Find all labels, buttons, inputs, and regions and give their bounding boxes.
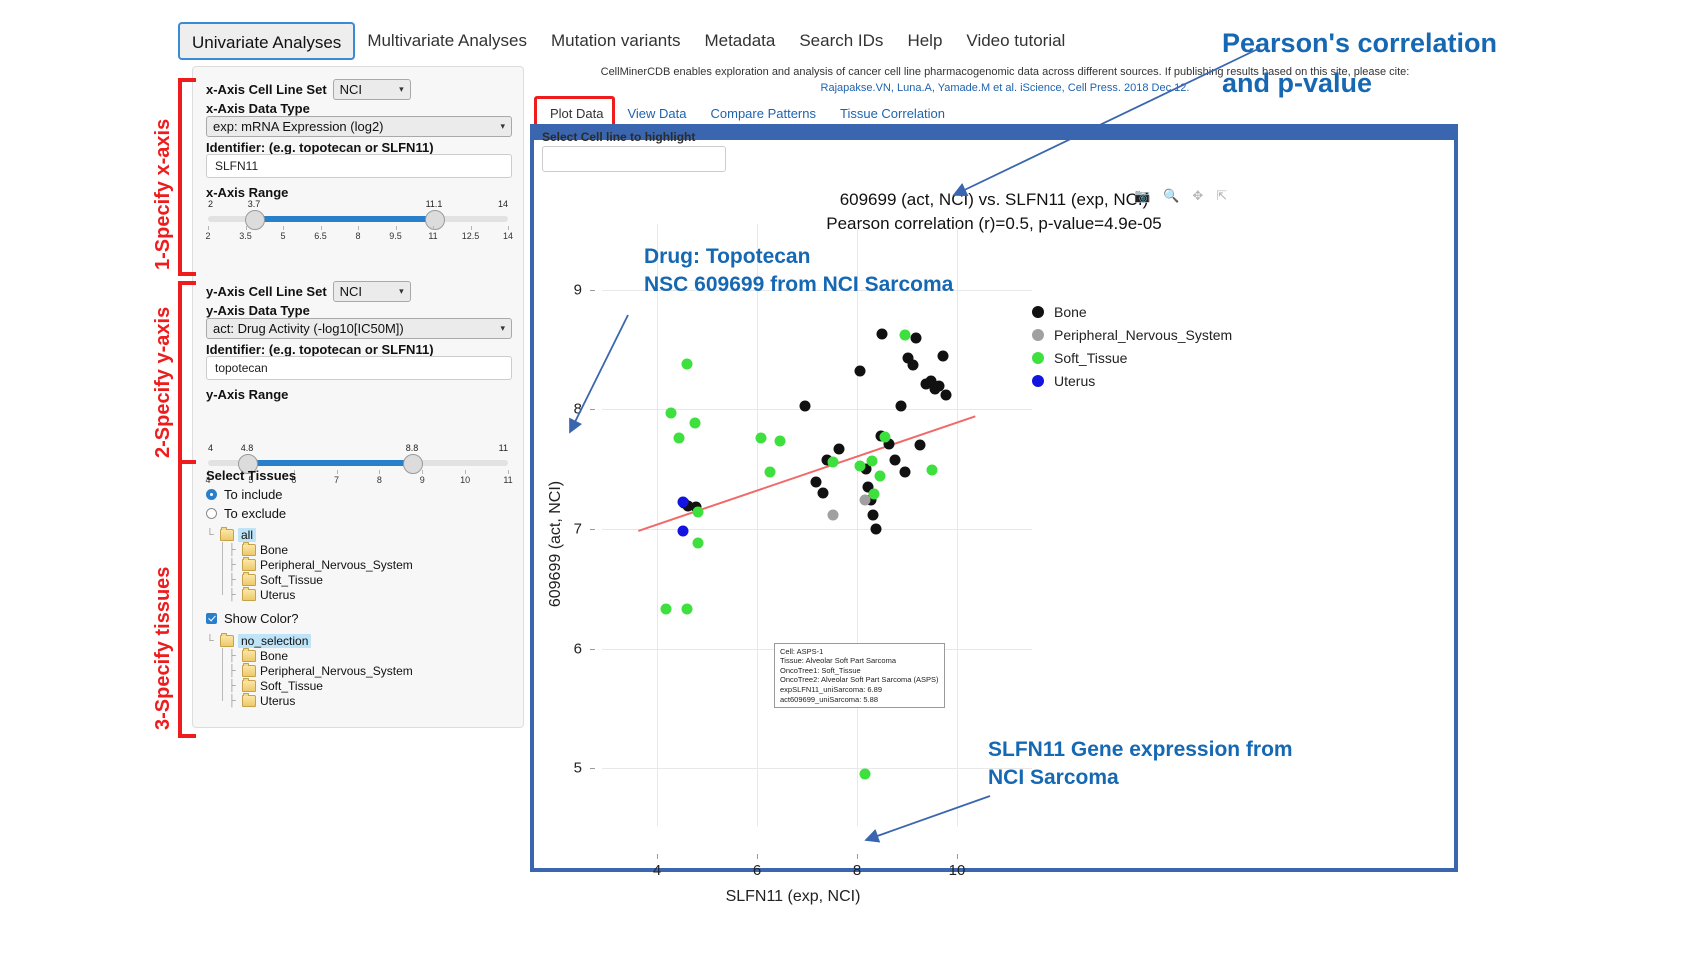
- slider-tickmark: [337, 470, 338, 474]
- tissue-tree2-children[interactable]: ├Bone├Peripheral_Nervous_System├Soft_Tis…: [206, 648, 506, 708]
- scatter-point[interactable]: [693, 507, 704, 518]
- tissue-tree-no-selection[interactable]: └ no_selection ├Bone├Peripheral_Nervous_…: [206, 634, 506, 708]
- radio-icon-exclude[interactable]: [206, 508, 217, 519]
- nav-tab-search-ids[interactable]: Search IDs: [787, 22, 895, 60]
- y-slider-fill: [244, 460, 411, 466]
- slider-ticklabel: 8: [355, 231, 360, 241]
- x-tickmark: [857, 854, 858, 859]
- tree-branch-icon: ├: [228, 695, 238, 707]
- scatter-point[interactable]: [911, 332, 922, 343]
- radio-icon-include[interactable]: [206, 489, 217, 500]
- tissue-tree-item-label: Soft_Tissue: [260, 573, 323, 587]
- folder-icon: [242, 650, 256, 662]
- tissue-tree-item-soft_tissue[interactable]: ├Soft_Tissue: [228, 678, 506, 693]
- y-axis-identifier-input[interactable]: topotecan: [206, 356, 512, 380]
- slider-ticklabel: 8: [377, 475, 382, 485]
- tooltip-line: Cell: ASPS-1: [780, 647, 939, 657]
- bracket-label-x-axis: 1-Specify x-axis: [152, 119, 175, 270]
- slider-tickmark: [321, 226, 322, 230]
- scatter-point[interactable]: [899, 466, 910, 477]
- slider-tickmark: [379, 470, 380, 474]
- y-axis-data-type-label: y-Axis Data Type: [206, 303, 310, 318]
- scatter-point[interactable]: [890, 454, 901, 465]
- highlight-cell-line-input[interactable]: [542, 146, 726, 172]
- legend-item-bone[interactable]: Bone: [1032, 304, 1087, 320]
- show-color-checkbox-row[interactable]: Show Color?: [206, 611, 298, 626]
- x-axis-identifier-label: Identifier: (e.g. topotecan or SLFN11): [206, 140, 434, 155]
- y-axis-title: 609699 (act, NCI): [547, 444, 565, 644]
- slider-ticklabel: 14: [503, 231, 513, 241]
- gridline-vertical: [757, 224, 758, 826]
- slider-ticklabel: 6.5: [314, 231, 327, 241]
- tissue-tree-item-bone[interactable]: ├Bone: [228, 542, 506, 557]
- legend-dot-icon: [1032, 306, 1044, 318]
- scatter-point[interactable]: [678, 496, 689, 507]
- folder-icon: [220, 529, 234, 541]
- legend-dot-icon: [1032, 352, 1044, 364]
- select-tissues-title: Select Tissues: [206, 468, 296, 483]
- arrow-pearson: [940, 40, 1270, 210]
- slider-tickmark: [422, 470, 423, 474]
- y-tickmark: [590, 649, 595, 650]
- bracket-tissues: [178, 460, 196, 738]
- y-axis-cell-line-set-value: NCI: [340, 284, 362, 299]
- slider-ticklabel: 9: [420, 475, 425, 485]
- x-slider-high-value: 11.1: [426, 199, 443, 209]
- bracket-label-y-axis: 2-Specify y-axis: [152, 307, 175, 458]
- tooltip-line: OncoTree2: Alveolar Soft Part Sarcoma (A…: [780, 675, 939, 685]
- annotation-drug-line1: Drug: Topotecan: [644, 245, 810, 269]
- scatter-point[interactable]: [908, 360, 919, 371]
- point-tooltip: Cell: ASPS-1Tissue: Alveolar Soft Part S…: [774, 643, 945, 709]
- slider-ticklabel: 10: [460, 475, 470, 485]
- tissue-tree-item-label: Bone: [260, 543, 288, 557]
- folder-icon: [242, 680, 256, 692]
- slider-tickmark: [433, 226, 434, 230]
- tree-expander-icon[interactable]: └: [206, 529, 216, 541]
- y-axis-data-type-select[interactable]: act: Drug Activity (-log10[IC50M]) ▾: [206, 318, 512, 339]
- y-axis-range-min-end: 4: [208, 443, 213, 453]
- highlight-label: Select Cell line to highlight: [542, 130, 695, 144]
- y-ticklabel: 6: [574, 640, 582, 657]
- legend-dot-icon: [1032, 375, 1044, 387]
- radio-to-include-label: To include: [224, 487, 283, 502]
- tissue-tree2-root[interactable]: └ no_selection: [206, 634, 506, 648]
- scatter-point[interactable]: [941, 390, 952, 401]
- folder-icon: [242, 544, 256, 556]
- x-axis-identifier-value: SLFN11: [215, 159, 258, 173]
- folder-icon: [220, 635, 234, 647]
- y-ticklabel: 5: [574, 760, 582, 777]
- tissue-tree-item-label: Soft_Tissue: [260, 679, 323, 693]
- tree-branch-icon: ├: [228, 574, 238, 586]
- x-ticklabel: 4: [653, 862, 661, 879]
- gridline-vertical: [957, 224, 958, 826]
- scatter-point[interactable]: [682, 359, 693, 370]
- x-tickmark: [657, 854, 658, 859]
- y-axis-range-max-end: 11: [499, 443, 508, 453]
- y-axis-cell-line-set-label: y-Axis Cell Line Set: [206, 284, 327, 299]
- legend-item-peripheral_nervous_system[interactable]: Peripheral_Nervous_System: [1032, 327, 1232, 343]
- tissue-tree-root-label: all: [238, 528, 256, 542]
- tissue-tree-item-label: Peripheral_Nervous_System: [260, 558, 413, 572]
- slider-tickmark: [246, 226, 247, 230]
- scatter-point[interactable]: [900, 330, 911, 341]
- tissue-tree-item-label: Bone: [260, 649, 288, 663]
- tooltip-line: OncoTree1: Soft_Tissue: [780, 666, 939, 676]
- scatter-point[interactable]: [682, 604, 693, 615]
- radio-to-exclude-label: To exclude: [224, 506, 286, 521]
- scatter-point[interactable]: [859, 769, 870, 780]
- y-ticklabel: 9: [574, 281, 582, 298]
- scatter-point[interactable]: [774, 435, 785, 446]
- tissue-tree-item-soft_tissue[interactable]: ├Soft_Tissue: [228, 572, 506, 587]
- folder-icon: [242, 574, 256, 586]
- scatter-point[interactable]: [755, 433, 766, 444]
- legend-dot-icon: [1032, 329, 1044, 341]
- bracket-x-axis: [178, 78, 196, 276]
- y-ticklabel: 7: [574, 521, 582, 538]
- scatter-point[interactable]: [867, 455, 878, 466]
- scatter-point[interactable]: [854, 460, 865, 471]
- scatter-point[interactable]: [674, 433, 685, 444]
- slider-ticklabel: 2: [205, 231, 210, 241]
- x-tickmark: [757, 854, 758, 859]
- nav-tab-multivariate-analyses[interactable]: Multivariate Analyses: [355, 22, 539, 60]
- x-tickmark: [957, 854, 958, 859]
- regression-line: [638, 415, 976, 531]
- tree-connector: [222, 542, 223, 595]
- scatter-point[interactable]: [854, 366, 865, 377]
- x-axis-range-slider[interactable]: 2 14 3.7 11.1 23.556.589.51112.514: [208, 199, 508, 241]
- tree-branch-icon: ├: [228, 650, 238, 662]
- tissue-tree-include[interactable]: └ all ├Bone├Peripheral_Nervous_System├So…: [206, 528, 506, 602]
- slider-ticklabel: 11: [428, 231, 437, 241]
- bracket-y-axis: [178, 281, 196, 464]
- slider-tickmark: [358, 226, 359, 230]
- tree-expander-icon[interactable]: └: [206, 635, 216, 647]
- tissue-tree-root[interactable]: └ all: [206, 528, 506, 542]
- y-slider-high-value: 8.8: [406, 443, 419, 453]
- x-axis-range-min-end: 2: [208, 199, 213, 209]
- slider-tickmark: [283, 226, 284, 230]
- tissue-tree-item-peripheral_nervous_system[interactable]: ├Peripheral_Nervous_System: [228, 663, 506, 678]
- annotation-slfn11-line1: SLFN11 Gene expression from: [988, 738, 1293, 762]
- scatter-point[interactable]: [875, 471, 886, 482]
- x-ticklabel: 10: [949, 862, 966, 879]
- plot-subtitle: Pearson correlation (r)=0.5, p-value=4.9…: [534, 214, 1454, 234]
- legend-label: Soft_Tissue: [1054, 350, 1127, 366]
- y-axis-identifier-label: Identifier: (e.g. topotecan or SLFN11): [206, 342, 434, 357]
- y-axis-identifier-value: topotecan: [215, 361, 268, 375]
- x-axis-title: SLFN11 (exp, NCI): [534, 888, 1052, 906]
- x-axis-data-type-select[interactable]: exp: mRNA Expression (log2) ▾: [206, 116, 512, 137]
- tree-branch-icon: ├: [228, 665, 238, 677]
- y-axis-data-type-value: act: Drug Activity (-log10[IC50M]): [213, 321, 404, 336]
- scatter-point[interactable]: [689, 417, 700, 428]
- x-axis-data-type-label: x-Axis Data Type: [206, 101, 310, 116]
- tissue-tree-item-uterus[interactable]: ├Uterus: [228, 693, 506, 708]
- x-slider-low-value: 3.7: [248, 199, 261, 209]
- slider-tickmark: [508, 226, 509, 230]
- nav-tab-metadata[interactable]: Metadata: [692, 22, 787, 60]
- chevron-down-icon: ▾: [500, 323, 505, 334]
- scatter-point[interactable]: [896, 400, 907, 411]
- gridline-horizontal: [602, 768, 1032, 769]
- y-slider-low-value: 4.8: [241, 443, 254, 453]
- gridline-horizontal: [602, 529, 1032, 530]
- legend-label: Peripheral_Nervous_System: [1054, 327, 1232, 343]
- tooltip-line: expSLFN11_uniSarcoma: 6.89: [780, 685, 939, 695]
- slider-tickmark: [208, 226, 209, 230]
- x-axis-cell-line-set-select[interactable]: NCI ▾: [333, 79, 411, 100]
- legend-item-uterus[interactable]: Uterus: [1032, 373, 1095, 389]
- y-axis-range-label: y-Axis Range: [206, 387, 288, 402]
- tissue-tree-item-peripheral_nervous_system[interactable]: ├Peripheral_Nervous_System: [228, 557, 506, 572]
- tissue-tree-item-label: Peripheral_Nervous_System: [260, 664, 413, 678]
- folder-icon: [242, 589, 256, 601]
- x-axis-range-max-end: 14: [498, 199, 508, 209]
- x-axis-cell-line-set-row[interactable]: x-Axis Cell Line Set NCI ▾: [206, 79, 411, 100]
- scatter-point[interactable]: [828, 509, 839, 520]
- slider-ticklabel: 7: [334, 475, 339, 485]
- arrow-drug: [560, 310, 640, 445]
- scatter-point[interactable]: [693, 538, 704, 549]
- tissue-tree-item-label: Uterus: [260, 694, 295, 708]
- tissue-tree-item-label: Uterus: [260, 588, 295, 602]
- scatter-point[interactable]: [871, 524, 882, 535]
- slider-ticklabel: 12.5: [462, 231, 480, 241]
- slider-tickmark: [471, 226, 472, 230]
- slider-ticklabel: 9.5: [389, 231, 402, 241]
- scatter-point[interactable]: [938, 350, 949, 361]
- tissue-tree2-root-label: no_selection: [238, 634, 311, 648]
- folder-icon: [242, 665, 256, 677]
- scatter-point[interactable]: [666, 408, 677, 419]
- subtab-view-data[interactable]: View Data: [615, 100, 698, 127]
- gridline-vertical: [857, 224, 858, 826]
- x-axis-cell-line-set-label: x-Axis Cell Line Set: [206, 82, 327, 97]
- scatter-point[interactable]: [817, 488, 828, 499]
- tissue-tree-item-bone[interactable]: ├Bone: [228, 648, 506, 663]
- x-axis-range-label: x-Axis Range: [206, 185, 288, 200]
- scatter-point[interactable]: [926, 465, 937, 476]
- slider-tickmark: [465, 470, 466, 474]
- scatter-point[interactable]: [833, 443, 844, 454]
- scatter-point[interactable]: [810, 477, 821, 488]
- nav-tab-mutation-variants[interactable]: Mutation variants: [539, 22, 692, 60]
- folder-icon: [242, 559, 256, 571]
- chevron-down-icon: ▾: [399, 286, 404, 297]
- tooltip-line: Tissue: Alveolar Soft Part Sarcoma: [780, 656, 939, 666]
- tooltip-line: act609699_uniSarcoma: 5.88: [780, 695, 939, 705]
- x-axis-cell-line-set-value: NCI: [340, 82, 362, 97]
- x-ticklabel: 8: [853, 862, 861, 879]
- tree-branch-icon: ├: [228, 544, 238, 556]
- slider-ticklabel: 3.5: [239, 231, 252, 241]
- legend-label: Bone: [1054, 304, 1087, 320]
- slider-ticklabel: 5: [280, 231, 285, 241]
- scatter-point[interactable]: [868, 509, 879, 520]
- slider-ticklabel: 11: [503, 475, 512, 485]
- slider-tickmark: [508, 470, 509, 474]
- folder-icon: [242, 695, 256, 707]
- annotation-slfn11-line2: NCI Sarcoma: [988, 766, 1119, 790]
- nav-tab-univariate-analyses[interactable]: Univariate Analyses: [178, 22, 355, 60]
- scatter-point[interactable]: [880, 431, 891, 442]
- scatter-point[interactable]: [678, 526, 689, 537]
- tree-connector: [222, 648, 223, 701]
- checkbox-icon-show-color[interactable]: [206, 613, 217, 624]
- tree-branch-icon: ├: [228, 680, 238, 692]
- tissue-tree-item-uterus[interactable]: ├Uterus: [228, 587, 506, 602]
- tissue-tree-children[interactable]: ├Bone├Peripheral_Nervous_System├Soft_Tis…: [206, 542, 506, 602]
- y-axis-cell-line-set-select[interactable]: NCI ▾: [333, 281, 411, 302]
- chevron-down-icon: ▾: [500, 121, 505, 132]
- scatter-point[interactable]: [828, 457, 839, 468]
- radio-to-exclude[interactable]: To exclude: [206, 506, 286, 521]
- show-color-label: Show Color?: [224, 611, 298, 626]
- scatter-point[interactable]: [868, 489, 879, 500]
- arrow-slfn11: [850, 790, 1000, 850]
- chevron-down-icon: ▾: [399, 84, 404, 95]
- scatter-point[interactable]: [914, 440, 925, 451]
- scatter-point[interactable]: [765, 466, 776, 477]
- y-tickmark: [590, 290, 595, 291]
- bracket-label-tissues: 3-Specify tissues: [152, 567, 175, 730]
- y-tickmark: [590, 529, 595, 530]
- x-slider-fill: [252, 216, 433, 222]
- legend-item-soft_tissue[interactable]: Soft_Tissue: [1032, 350, 1127, 366]
- tree-branch-icon: ├: [228, 589, 238, 601]
- y-axis-cell-line-set-row[interactable]: y-Axis Cell Line Set NCI ▾: [206, 281, 411, 302]
- x-ticklabel: 6: [753, 862, 761, 879]
- x-axis-data-type-value: exp: mRNA Expression (log2): [213, 119, 384, 134]
- legend-label: Uterus: [1054, 373, 1095, 389]
- scatter-point[interactable]: [876, 329, 887, 340]
- x-axis-identifier-input[interactable]: SLFN11: [206, 154, 512, 178]
- radio-to-include[interactable]: To include: [206, 487, 283, 502]
- tree-branch-icon: ├: [228, 559, 238, 571]
- y-tickmark: [590, 768, 595, 769]
- scatter-point[interactable]: [660, 604, 671, 615]
- annotation-drug-line2: NSC 609699 from NCI Sarcoma: [644, 273, 953, 297]
- subtab-tissue-correlation[interactable]: Tissue Correlation: [828, 100, 957, 127]
- scatter-point[interactable]: [799, 400, 810, 411]
- x-slider-ticks: 23.556.589.51112.514: [208, 226, 508, 242]
- subtab-compare-patterns[interactable]: Compare Patterns: [699, 100, 829, 127]
- slider-tickmark: [396, 226, 397, 230]
